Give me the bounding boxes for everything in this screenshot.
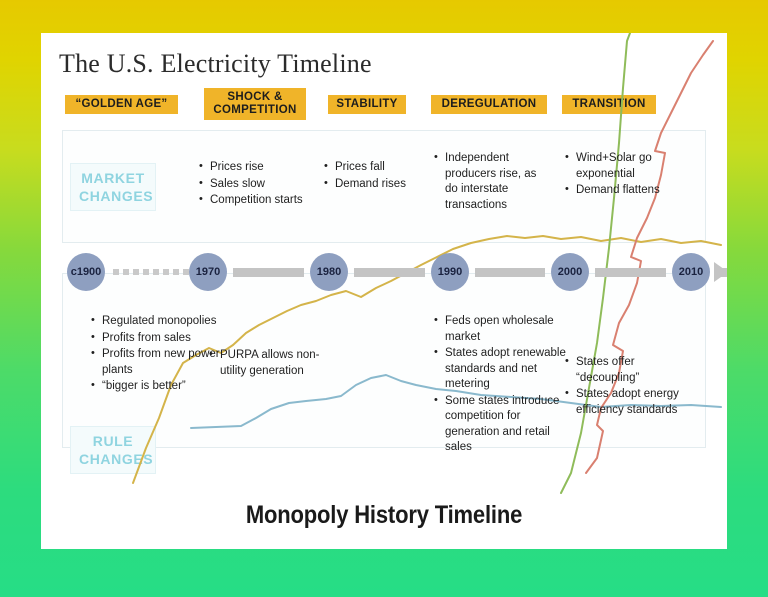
bullet-item: Profits from sales [91,331,226,347]
timeline-segment [354,268,425,277]
timeline-node-1980[interactable]: 1980 [310,253,348,291]
bullet-item: Prices rise [199,160,329,176]
section-tag-rule-changes: RULE CHANGES [70,426,156,474]
bullet-item: Independent producers rise, as do inters… [434,151,546,213]
timeline-dot [133,269,139,275]
infographic-card: The U.S. Electricity Timeline “GOLDEN AG… [41,33,727,549]
page-title: The U.S. Electricity Timeline [59,49,372,79]
era-label-stability: STABILITY [328,95,406,114]
rule-changes-column-1: Regulated monopoliesProfits from salesPr… [91,314,226,396]
timeline-dot [113,269,119,275]
bullet-item: Feds open wholesale market [434,314,572,345]
market-changes-column-2: Prices fallDemand rises [324,160,429,193]
timeline-node-c1900[interactable]: c1900 [67,253,105,291]
bullet-item: Regulated monopolies [91,314,226,330]
era-label-deregulation: DEREGULATION [431,95,547,114]
timeline-node-1990[interactable]: 1990 [431,253,469,291]
timeline-dot [163,269,169,275]
era-label-golden-age: “GOLDEN AGE” [65,95,178,114]
timeline-dot [173,269,179,275]
bullet-item: Sales slow [199,177,329,193]
bullet-item: Prices fall [324,160,429,176]
section-tag-market-changes: MARKET CHANGES [70,163,156,211]
market-changes-column-3: Independent producers rise, as do inters… [434,151,546,214]
market-changes-column-4: Wind+Solar go exponentialDemand flattens [565,151,685,200]
caption-title: Monopoly History Timeline [82,501,686,530]
era-label-transition: TRANSITION [562,95,656,114]
bullet-item: Competition starts [199,193,329,209]
timeline-node-1970[interactable]: 1970 [189,253,227,291]
bullet-item: States adopt energy efficiency standards [565,387,693,418]
bullet-item: States adopt renewable standards and net… [434,346,572,393]
bullet-item: PURPA allows non-utility generation [209,348,324,379]
timeline-arrow-icon [714,262,727,282]
timeline-axis: c190019701980199020002010 [41,251,727,297]
timeline-segment [475,268,545,277]
timeline-segment [233,268,304,277]
rule-changes-column-2: PURPA allows non-utility generation [209,348,324,380]
bullet-item: Demand flattens [565,183,685,199]
timeline-dot [143,269,149,275]
era-label-shock-competition: SHOCK & COMPETITION [204,88,306,120]
bullet-item: Some states introduce competition for ge… [434,394,572,456]
bullet-item: Profits from new power plants [91,347,226,378]
timeline-dot [153,269,159,275]
bullet-item: States offer “decoupling” [565,355,693,386]
timeline-dot [123,269,129,275]
bullet-item: “bigger is better” [91,379,226,395]
bullet-item: Demand rises [324,177,429,193]
timeline-node-2010[interactable]: 2010 [672,253,710,291]
timeline-node-2000[interactable]: 2000 [551,253,589,291]
bullet-item: Wind+Solar go exponential [565,151,685,182]
rule-changes-column-3: Feds open wholesale marketStates adopt r… [434,314,572,457]
rule-changes-column-4: States offer “decoupling”States adopt en… [565,355,693,419]
market-changes-column-1: Prices riseSales slowCompetition starts [199,160,329,210]
timeline-segment [595,268,666,277]
